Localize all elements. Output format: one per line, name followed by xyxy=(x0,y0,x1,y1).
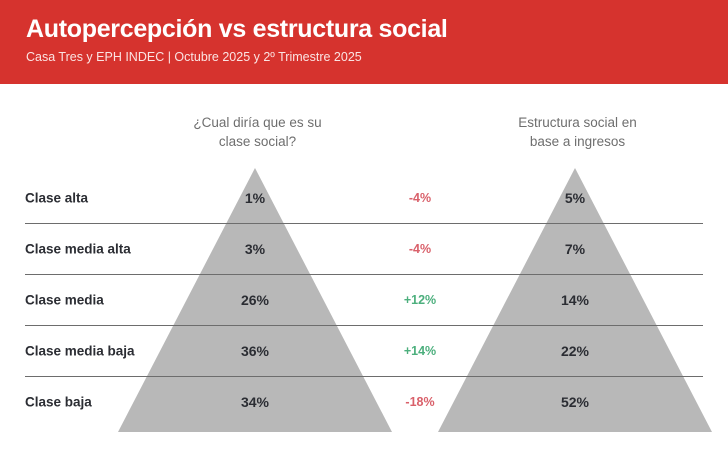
perception-value: 36% xyxy=(215,343,295,359)
delta-value: -18% xyxy=(375,395,465,409)
perception-value: 1% xyxy=(215,190,295,206)
structure-value: 52% xyxy=(535,394,615,410)
page-subtitle: Casa Tres y EPH INDEC | Octubre 2025 y 2… xyxy=(26,49,728,65)
delta-value: -4% xyxy=(375,191,465,205)
infographic-root: Autopercepción vs estructura social Casa… xyxy=(0,0,728,476)
table-row: Clase media baja 36% +14% 22% xyxy=(0,325,728,376)
structure-value: 22% xyxy=(535,343,615,359)
perception-value: 26% xyxy=(215,292,295,308)
table-row: Clase media alta 3% -4% 7% xyxy=(0,223,728,274)
delta-value: +14% xyxy=(375,344,465,358)
row-label: Clase baja xyxy=(25,394,92,409)
structure-value: 5% xyxy=(535,190,615,206)
delta-value: -4% xyxy=(375,242,465,256)
row-divider xyxy=(25,274,703,275)
page-title: Autopercepción vs estructura social xyxy=(26,14,728,44)
row-divider xyxy=(25,376,703,377)
perception-value: 34% xyxy=(215,394,295,410)
structure-value: 14% xyxy=(535,292,615,308)
perception-value: 3% xyxy=(215,241,295,257)
header-band: Autopercepción vs estructura social Casa… xyxy=(0,0,728,84)
row-label: Clase media alta xyxy=(25,241,131,256)
row-label: Clase media xyxy=(25,292,104,307)
row-label: Clase alta xyxy=(25,190,88,205)
column-heading-structure: Estructura social en base a ingresos xyxy=(470,113,685,151)
row-divider xyxy=(25,325,703,326)
column-heading-perception: ¿Cual diría que es su clase social? xyxy=(150,113,365,151)
structure-value: 7% xyxy=(535,241,615,257)
data-rows: Clase alta 1% -4% 5% Clase media alta 3%… xyxy=(0,172,728,427)
row-divider xyxy=(25,223,703,224)
row-label: Clase media baja xyxy=(25,343,135,358)
table-row: Clase media 26% +12% 14% xyxy=(0,274,728,325)
table-row: Clase baja 34% -18% 52% xyxy=(0,376,728,427)
delta-value: +12% xyxy=(375,293,465,307)
table-row: Clase alta 1% -4% 5% xyxy=(0,172,728,223)
